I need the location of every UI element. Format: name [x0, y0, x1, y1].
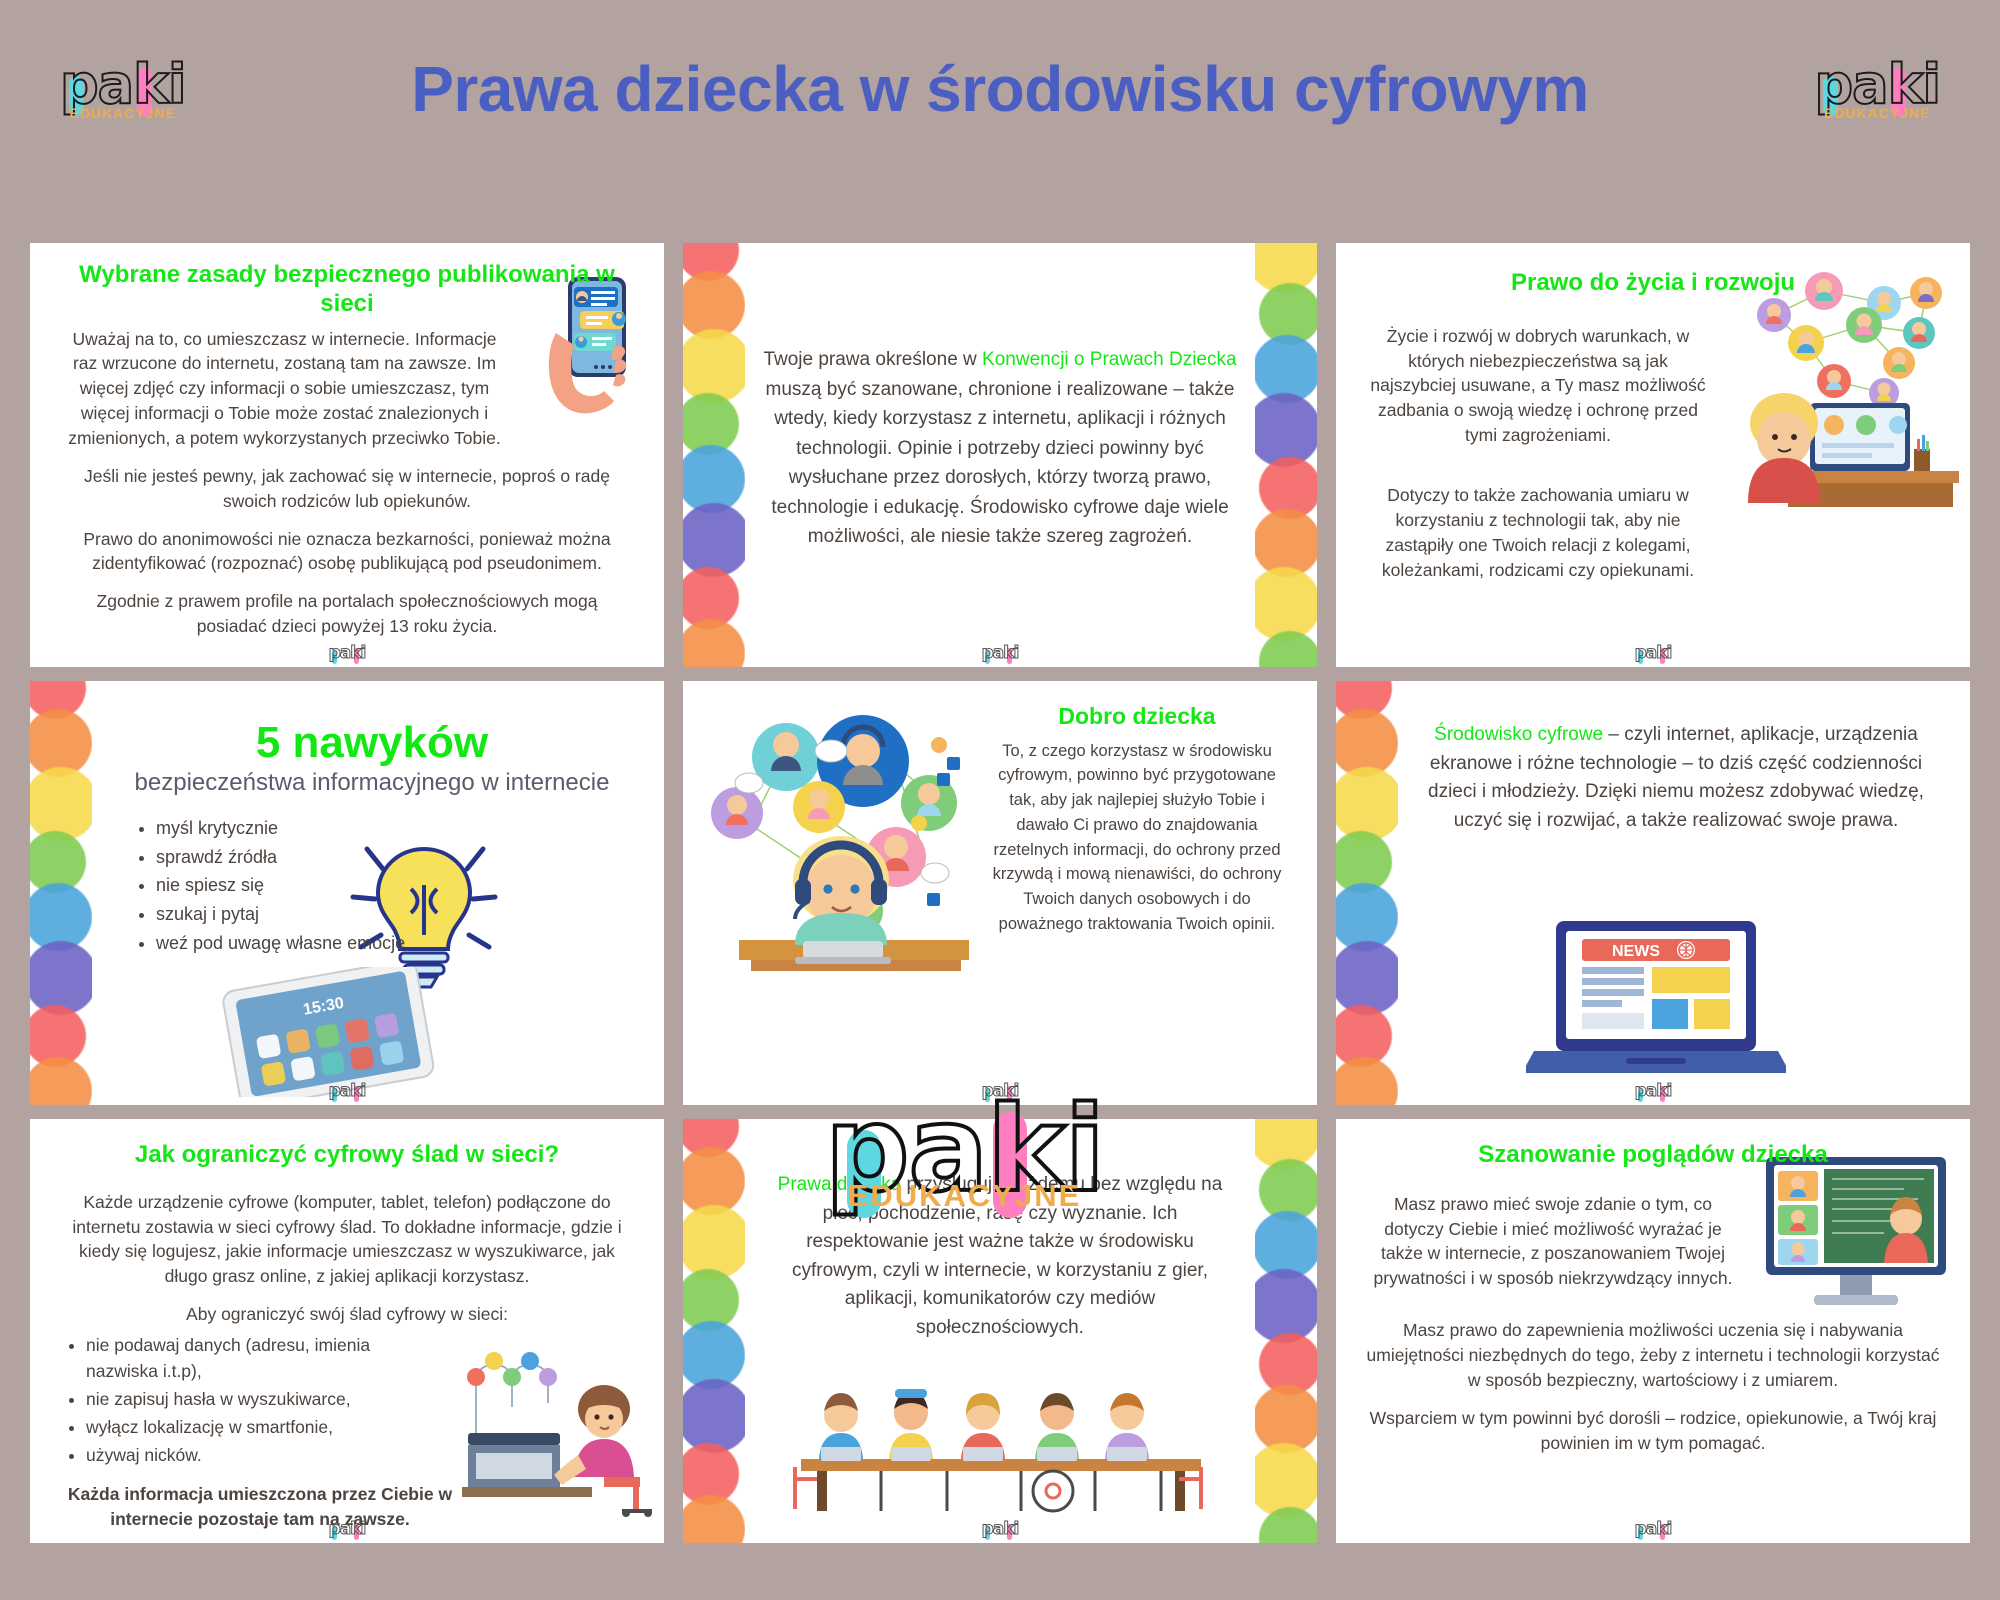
card-footer-logo: paki — [1336, 1521, 1970, 1539]
cards-grid: Wybrane zasady bezpiecznego publikowania… — [30, 243, 1970, 1543]
list-item: wyłącz lokalizację w smartfonie, — [86, 1415, 416, 1441]
logo-wordmark: paki — [60, 58, 186, 112]
card-cyfrowy-slad[interactable]: Jak ograniczyć cyfrowy ślad w sieci? Każ… — [30, 1119, 664, 1543]
habits-list: myśl krytycznie sprawdź źródła nie spies… — [110, 815, 634, 958]
card-paragraph: Jeśli nie jesteś pewny, jak zachować się… — [64, 464, 630, 514]
logo-subtitle: EDUKACYJNE — [60, 106, 186, 120]
card-szanowanie-pogladow[interactable]: Szanowanie poglądów dziecka Masz prawo m… — [1336, 1119, 1970, 1543]
paragraph-lead: Twoje prawa określone w — [763, 349, 982, 370]
card-paragraph: Dotyczy to także zachowania umiaru w kor… — [1366, 483, 1710, 582]
card-publikowanie[interactable]: Wybrane zasady bezpiecznego publikowania… — [30, 243, 664, 667]
card-footer-logo: paki — [1336, 1083, 1970, 1101]
card-paragraph: Masz prawo do zapewnienia możliwości ucz… — [1366, 1318, 1940, 1393]
list-item: używaj nicków. — [86, 1443, 416, 1469]
brand-logo-right: paki EDUKACYJNE — [1814, 58, 1940, 120]
paragraph-rest: muszą być szanowane, chronione i realizo… — [766, 379, 1235, 547]
highlight-prawa-dziecka: Prawa dziecka — [778, 1174, 902, 1195]
card-title: Szanowanie poglądów dziecka — [1366, 1141, 1940, 1170]
list-item: nie podawaj danych (adresu, imienia nazw… — [86, 1333, 416, 1385]
card-paragraph: Każde urządzenie cyfrowe (komputer, tabl… — [60, 1190, 634, 1289]
list-item: weź pod uwagę własne emocje — [156, 930, 634, 957]
brand-logo-left: paki EDUKACYJNE — [60, 58, 186, 120]
card-footer-logo: paki — [1336, 645, 1970, 663]
card-paragraph: Środowisko cyfrowe – czyli internet, apl… — [1416, 721, 1936, 835]
card-paragraph: Uważaj na to, co umieszczasz w interneci… — [64, 327, 505, 451]
page-header: paki EDUKACYJNE Prawa dziecka w środowis… — [0, 0, 2000, 178]
highlight-konwencja: Konwencji o Prawach Dziecka — [982, 349, 1237, 370]
footer-logo-wordmark: paki — [1635, 643, 1672, 663]
card-paragraph: Twoje prawa określone w Konwencji o Praw… — [763, 345, 1237, 551]
card-title: Prawo do życia i rozwoju — [1366, 269, 1940, 298]
card-paragraph: Prawo do anonimowości nie oznacza bezkar… — [64, 527, 630, 577]
card-title: Jak ograniczyć cyfrowy ślad w sieci? — [60, 1141, 634, 1170]
card-sub-title: bezpieczeństwa informacyjnego w internec… — [110, 769, 634, 797]
logo-subtitle: EDUKACYJNE — [1814, 106, 1940, 120]
card-footer-logo: paki — [683, 1083, 1317, 1101]
paragraph-rest: przysługują każdemu bez względu na płeć,… — [792, 1174, 1222, 1338]
card-paragraph: Życie i rozwój w dobrych warunkach, w kt… — [1366, 324, 1710, 448]
card-footer-logo: paki — [683, 1521, 1317, 1539]
card-paragraph: Aby ograniczyć swój ślad cyfrowy w sieci… — [60, 1302, 634, 1327]
page-title: Prawa dziecka w środowisku cyfrowym — [186, 52, 1815, 126]
card-konwencja[interactable]: Twoje prawa określone w Konwencji o Praw… — [683, 243, 1317, 667]
footer-logo-wordmark: paki — [329, 1519, 366, 1539]
card-srodowisko-cyfrowe[interactable]: Środowisko cyfrowe – czyli internet, apl… — [1336, 681, 1970, 1105]
footer-logo-wordmark: paki — [982, 1519, 1019, 1539]
card-footer-logo: paki — [30, 1521, 664, 1539]
card-footer-logo: paki — [30, 645, 664, 663]
card-5-nawykow[interactable]: 5 nawyków bezpieczeństwa informacyjnego … — [30, 681, 664, 1105]
card-footer-logo: paki — [683, 645, 1317, 663]
list-item: myśl krytycznie — [156, 815, 634, 842]
card-paragraph: Wsparciem w tym powinni być dorośli – ro… — [1366, 1406, 1940, 1456]
card-paragraph: Masz prawo mieć swoje zdanie o tym, co d… — [1366, 1192, 1740, 1291]
footer-logo-wordmark: paki — [329, 643, 366, 663]
card-footer-logo: paki — [30, 1083, 664, 1101]
footer-logo-wordmark: paki — [982, 1081, 1019, 1101]
card-big-title: 5 nawyków — [110, 721, 634, 765]
card-prawa-przysluguja[interactable]: Prawa dziecka przysługują każdemu bez wz… — [683, 1119, 1317, 1543]
footer-logo-wordmark: paki — [982, 643, 1019, 663]
footer-logo-wordmark: paki — [1635, 1081, 1672, 1101]
list-item: szukaj i pytaj — [156, 901, 634, 928]
logo-wordmark: paki — [1814, 58, 1940, 112]
card-paragraph: Zgodnie z prawem profile na portalach sp… — [64, 589, 630, 639]
card-paragraph: To, z czego korzystasz w środowisku cyfr… — [983, 739, 1291, 937]
card-title: Dobro dziecka — [983, 703, 1291, 731]
card-zycie-rozwoj[interactable]: Prawo do życia i rozwoju Życie i rozwój … — [1336, 243, 1970, 667]
list-item: nie spiesz się — [156, 872, 634, 899]
card-dobro-dziecka[interactable]: Dobro dziecka To, z czego korzystasz w ś… — [683, 681, 1317, 1105]
list-item: sprawdź źródła — [156, 844, 634, 871]
list-item: nie zapisuj hasła w wyszukiwarce, — [86, 1387, 416, 1413]
card-paragraph: Prawa dziecka przysługują każdemu bez wz… — [763, 1171, 1237, 1342]
card-title: Wybrane zasady bezpiecznego publikowania… — [64, 261, 630, 319]
footer-logo-wordmark: paki — [329, 1081, 366, 1101]
tips-list: nie podawaj danych (adresu, imienia nazw… — [60, 1333, 416, 1470]
footer-logo-wordmark: paki — [1635, 1519, 1672, 1539]
highlight-srodowisko: Środowisko cyfrowe — [1434, 724, 1603, 745]
